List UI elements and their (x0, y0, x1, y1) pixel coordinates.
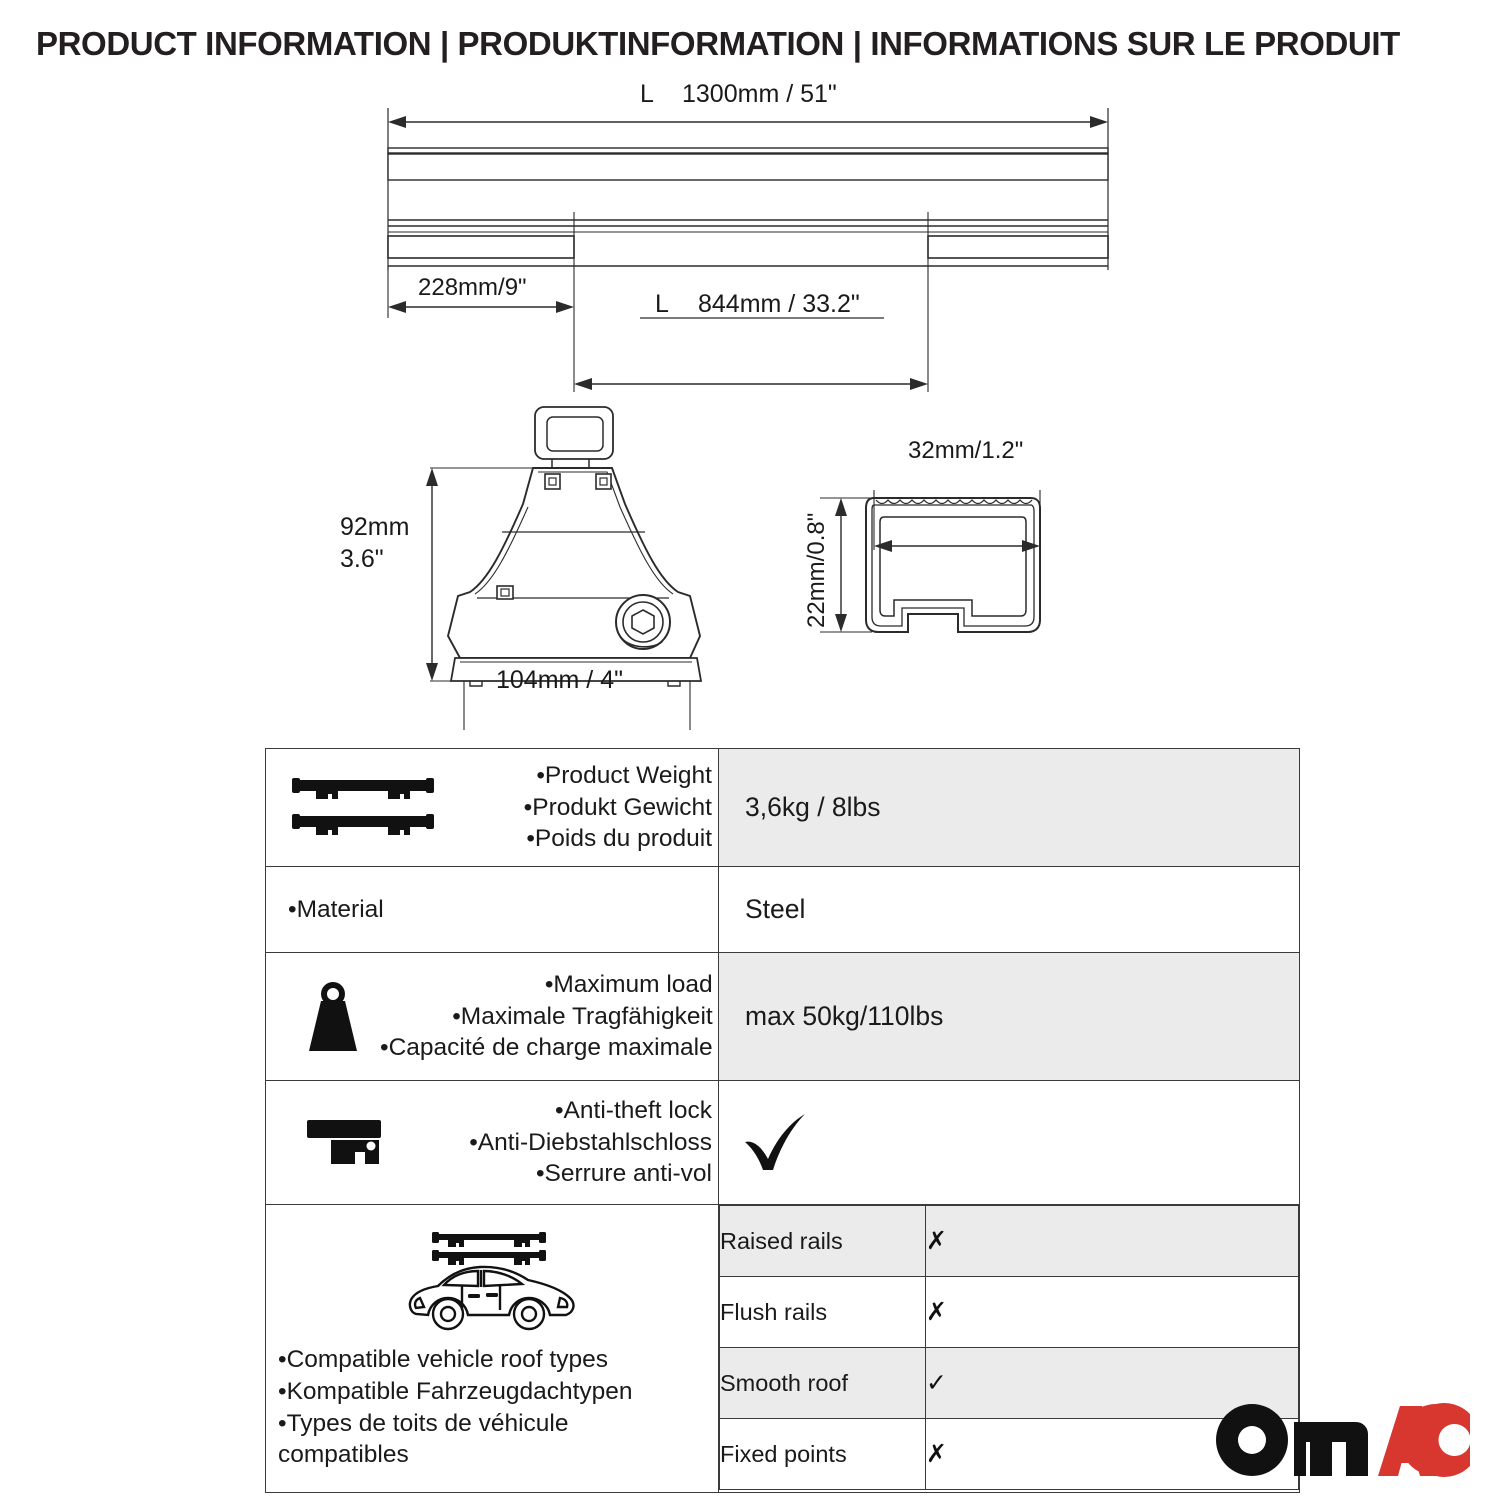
roof-type-mark: ✗ (926, 1206, 1299, 1277)
roof-type-row: Flush rails ✗ (720, 1277, 1299, 1348)
spec-label-group: •Anti-theft lock •Anti-Diebstahlschloss … (408, 1095, 714, 1191)
spec-label-cell: •Material (266, 867, 719, 953)
spec-label-line: •Maximale Tragfähigkeit (380, 1001, 713, 1033)
foot-width-value: 104mm / 4" (496, 666, 623, 694)
table-row: •Compatible vehicle roof types •Kompatib… (266, 1205, 1300, 1493)
bar-length-value: 1300mm / 51" (682, 80, 837, 108)
spec-label-cell: •Anti-theft lock •Anti-Diebstahlschloss … (266, 1081, 719, 1205)
span-prefix: L (655, 290, 669, 318)
spec-label-line: •Material (288, 894, 712, 926)
bar-length-prefix: L (640, 80, 654, 108)
product-information-sheet: PRODUCT INFORMATION | PRODUKTINFORMATION… (0, 0, 1500, 1500)
max-load-value: max 50kg/110lbs (719, 1001, 1299, 1033)
material-value: Steel (719, 894, 1299, 926)
spec-value-cell: 3,6kg / 8lbs (719, 749, 1300, 867)
spec-label-group: •Material (288, 894, 714, 926)
spec-label-group: •Maximum load •Maximale Tragfähigkeit •C… (380, 969, 715, 1065)
spec-label-line: •Anti-theft lock (408, 1095, 712, 1127)
roof-types-subtable: Raised rails ✗ Flush rails ✗ Smooth roof… (719, 1205, 1299, 1490)
spec-value-cell: Steel (719, 867, 1300, 953)
spec-label-line: •Product Weight (438, 760, 712, 792)
table-row: •Anti-theft lock •Anti-Diebstahlschloss … (266, 1081, 1300, 1205)
spec-label-cell: •Maximum load •Maximale Tragfähigkeit •C… (266, 953, 719, 1081)
page-title: PRODUCT INFORMATION | PRODUKTINFORMATION… (36, 26, 1445, 64)
roof-types-matrix-cell: Raised rails ✗ Flush rails ✗ Smooth roof… (719, 1205, 1300, 1493)
spec-value-cell: max 50kg/110lbs (719, 953, 1300, 1081)
roof-type-name: Fixed points (720, 1419, 926, 1490)
logo-omac-mark (1214, 1402, 1472, 1478)
roof-type-name: Smooth roof (720, 1348, 926, 1419)
table-row: •Material Steel (266, 867, 1300, 953)
spec-label-group: •Product Weight •Produkt Gewicht •Poids … (438, 760, 714, 856)
anti-theft-check-icon (719, 1112, 1299, 1174)
spec-label-line: •Maximum load (380, 969, 713, 1001)
specifications-table: •Product Weight •Produkt Gewicht •Poids … (265, 748, 1300, 1493)
roof-types-label-line: •Compatible vehicle roof types (278, 1344, 718, 1376)
roof-type-row: Raised rails ✗ (720, 1206, 1299, 1277)
car-with-rack-icon (266, 1226, 718, 1338)
spec-label-line: •Poids du produit (438, 823, 712, 855)
spec-label-line: •Serrure anti-vol (408, 1158, 712, 1190)
roof-types-label-line: •Types de toits de véhicule (278, 1408, 718, 1440)
spec-label-cell: •Product Weight •Produkt Gewicht •Poids … (266, 749, 719, 867)
profile-height-value: 22mm/0.8" (803, 513, 830, 628)
spec-label-line: •Produkt Gewicht (438, 792, 712, 824)
roof-types-label-line: compatibles (278, 1439, 718, 1471)
roof-rack-bars-icon (288, 772, 438, 844)
roof-type-mark: ✗ (926, 1277, 1299, 1348)
spec-label-line: •Capacité de charge maximale (380, 1032, 713, 1064)
omac-logo (1214, 1402, 1472, 1478)
profile-width-value: 32mm/1.2" (908, 437, 1023, 464)
lock-bar-icon (288, 1114, 408, 1172)
product-weight-value: 3,6kg / 8lbs (719, 792, 1299, 824)
foot-height-line2: 3.6" (340, 545, 384, 573)
foot-height-line1: 92mm (340, 513, 409, 541)
roof-type-name: Raised rails (720, 1206, 926, 1277)
weight-icon (288, 978, 380, 1056)
foot-offset-value: 228mm/9" (418, 274, 527, 301)
roof-type-name: Flush rails (720, 1277, 926, 1348)
technical-drawing-area: L 1300mm / 51" 228mm/9" L 844mm / 33.2" … (0, 80, 1500, 730)
spec-label-line: •Anti-Diebstahlschloss (408, 1127, 712, 1159)
roof-types-label-cell: •Compatible vehicle roof types •Kompatib… (266, 1205, 719, 1493)
roof-type-row: Smooth roof ✓ (720, 1348, 1299, 1419)
table-row: •Maximum load •Maximale Tragfähigkeit •C… (266, 953, 1300, 1081)
roof-types-label-group: •Compatible vehicle roof types •Kompatib… (266, 1344, 718, 1471)
roof-type-row: Fixed points ✗ (720, 1419, 1299, 1490)
roof-types-label-line: •Kompatible Fahrzeugdachtypen (278, 1376, 718, 1408)
spec-value-cell (719, 1081, 1300, 1205)
span-value: 844mm / 33.2" (698, 290, 860, 318)
table-row: •Product Weight •Produkt Gewicht •Poids … (266, 749, 1300, 867)
